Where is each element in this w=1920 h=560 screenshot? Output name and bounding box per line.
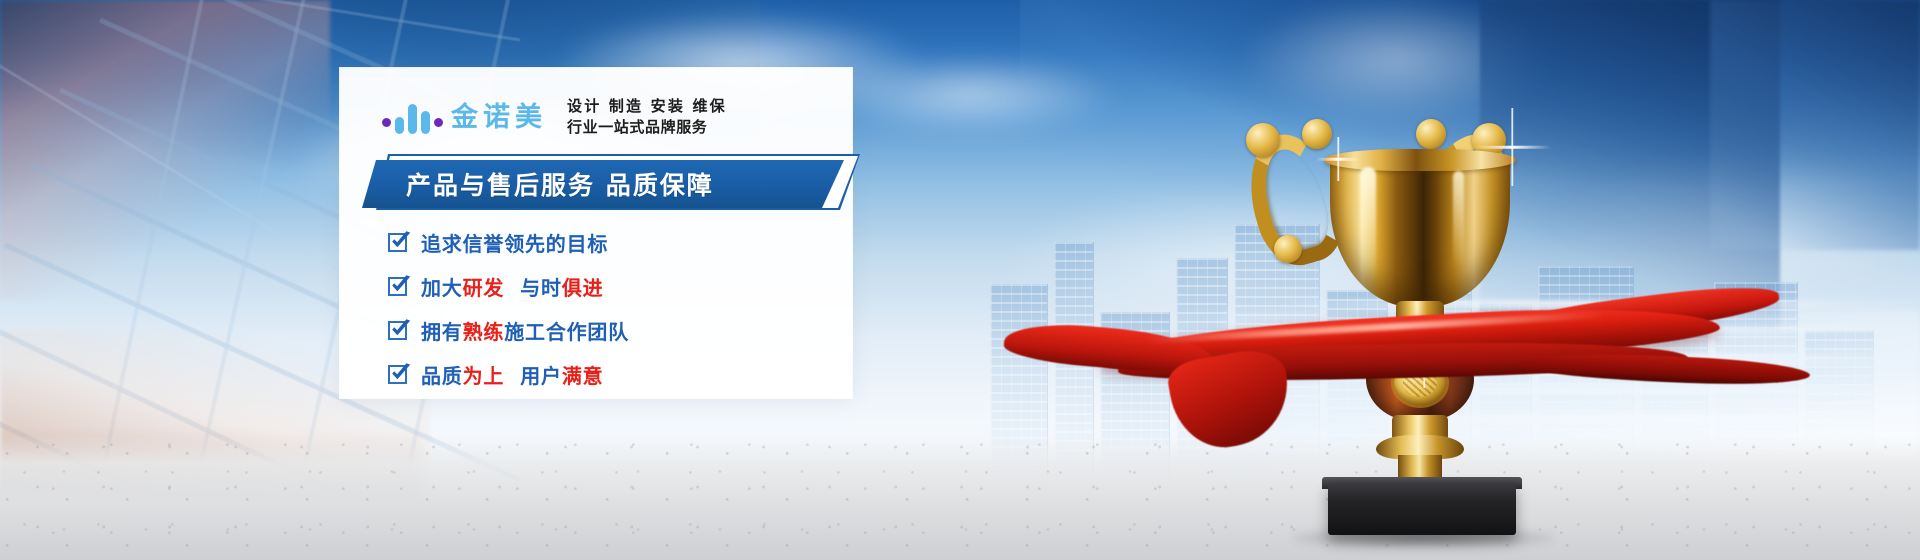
ground-texture bbox=[0, 435, 1920, 560]
checklist-item: 追求信誉领先的目标 bbox=[388, 224, 629, 260]
banner-title: 产品与售后服务 品质保障 bbox=[406, 166, 714, 202]
text-segment: 品质 bbox=[421, 364, 463, 388]
banner-stage: 金诺美 设计 制造 安装 维保 行业一站式品牌服务 产品与售后服务 品质保障 追… bbox=[0, 0, 1920, 560]
checklist-item-label: 追求信誉领先的目标 bbox=[421, 228, 608, 257]
text-segment: 拥有 bbox=[421, 320, 463, 344]
feature-checklist: 追求信誉领先的目标加大研发与时俱进拥有熟练施工合作团队品质为上用户满意 bbox=[388, 224, 629, 400]
red-ribbon bbox=[1100, 258, 1820, 438]
logo-bar-2 bbox=[408, 104, 417, 134]
text-segment: 追求信誉领先的目标 bbox=[421, 232, 608, 256]
content-card: 金诺美 设计 制造 安装 维保 行业一站式品牌服务 产品与售后服务 品质保障 追… bbox=[340, 68, 852, 398]
text-segment: 俱进 bbox=[562, 276, 604, 300]
checkbox-checked-icon bbox=[388, 321, 407, 340]
logo-dot-right bbox=[434, 118, 443, 127]
text-segment: 施工合作团队 bbox=[504, 320, 629, 344]
headline-banner: 产品与售后服务 品质保障 bbox=[362, 154, 872, 214]
brand-tagline: 设计 制造 安装 维保 行业一站式品牌服务 bbox=[567, 96, 727, 139]
sound-bars-logo-icon bbox=[382, 100, 443, 134]
checklist-item: 品质为上用户满意 bbox=[388, 356, 629, 392]
logo-bar-1 bbox=[395, 117, 404, 134]
text-segment: 熟练 bbox=[463, 320, 505, 344]
checklist-item: 加大研发与时俱进 bbox=[388, 268, 629, 304]
checkbox-checked-icon bbox=[388, 277, 407, 296]
tagline-line-2: 行业一站式品牌服务 bbox=[567, 117, 727, 138]
banner-shape: 产品与售后服务 品质保障 bbox=[362, 160, 844, 208]
checkbox-checked-icon bbox=[388, 233, 407, 252]
text-segment: 加大 bbox=[421, 276, 463, 300]
brand-name: 金诺美 bbox=[451, 104, 547, 131]
text-segment: 与时 bbox=[520, 276, 562, 300]
brand-logo[interactable]: 金诺美 设计 制造 安装 维保 行业一站式品牌服务 bbox=[382, 96, 727, 139]
tagline-line-1: 设计 制造 安装 维保 bbox=[567, 96, 727, 117]
text-segment: 满意 bbox=[562, 364, 604, 388]
text-segment: 用户 bbox=[520, 364, 562, 388]
checklist-item-label: 加大研发与时俱进 bbox=[421, 272, 603, 301]
text-segment: 为上 bbox=[463, 364, 505, 388]
checkbox-checked-icon bbox=[388, 365, 407, 384]
logo-dot-left bbox=[382, 118, 391, 127]
checklist-item-label: 拥有熟练施工合作团队 bbox=[421, 316, 629, 345]
text-segment: 研发 bbox=[463, 276, 505, 300]
checklist-item-label: 品质为上用户满意 bbox=[421, 360, 603, 389]
logo-bar-3 bbox=[421, 111, 430, 134]
checklist-item: 拥有熟练施工合作团队 bbox=[388, 312, 629, 348]
ground-plane bbox=[0, 435, 1920, 560]
